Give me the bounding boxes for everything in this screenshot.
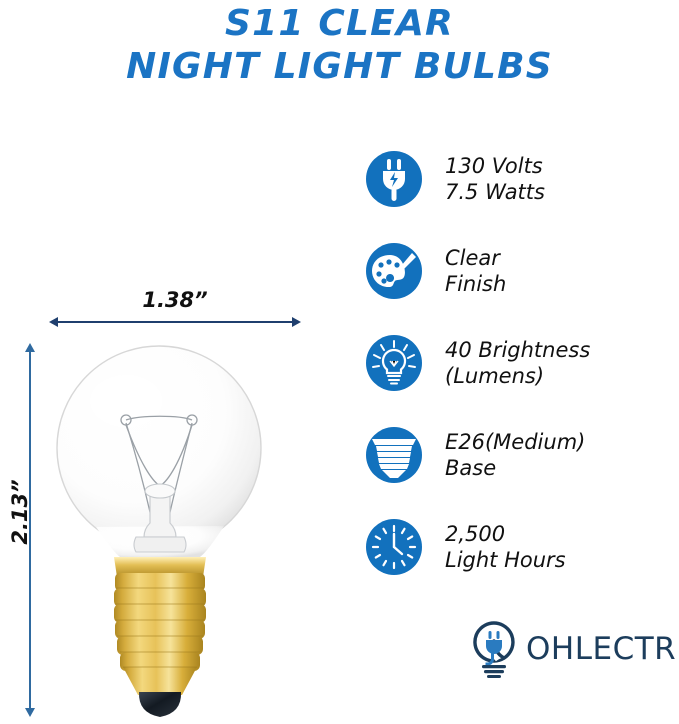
spec-list: 130 Volts 7.5 Watts Clear Finish [365, 133, 665, 593]
spec-text-finish: Clear Finish [445, 245, 506, 297]
spec-line1: 40 Brightness [445, 337, 590, 363]
spec-line2: Base [445, 455, 585, 481]
spec-row-voltage: 130 Volts 7.5 Watts [365, 133, 665, 225]
spec-line1: 130 Volts [445, 153, 545, 179]
width-dimension-arrow [58, 321, 292, 323]
page-title: S11 CLEAR NIGHT LIGHT BULBS [0, 2, 679, 88]
brand-name-text: OHLECTRIC [526, 631, 679, 667]
brand-logo: OHLECTRIC ® [466, 618, 671, 680]
spec-line2: 7.5 Watts [445, 179, 545, 205]
lightbulb-icon [365, 334, 423, 392]
spec-row-finish: Clear Finish [365, 225, 665, 317]
height-dimension-label: 2.13” [8, 452, 32, 572]
width-dimension-label: 1.38” [58, 288, 292, 312]
spec-text-base: E26(Medium) Base [445, 429, 585, 481]
spec-line2: Finish [445, 271, 506, 297]
spec-line1: E26(Medium) [445, 429, 585, 455]
page-title-line2: NIGHT LIGHT BULBS [0, 45, 679, 88]
page-title-line1: S11 CLEAR [0, 2, 679, 45]
spec-row-hours: 2,500 Light Hours [365, 501, 665, 593]
spec-line1: Clear [445, 245, 506, 271]
screw-base-icon [365, 426, 423, 484]
clock-icon [365, 518, 423, 576]
bulb-image [40, 345, 310, 720]
plug-icon [365, 150, 423, 208]
palette-icon [365, 242, 423, 300]
brand-name: OHLECTRIC ® [526, 631, 679, 667]
spec-line1: 2,500 [445, 521, 566, 547]
spec-text-brightness: 40 Brightness (Lumens) [445, 337, 590, 389]
bulb-plug-logo-icon [466, 619, 522, 679]
spec-line2: (Lumens) [445, 363, 590, 389]
product-illustration-panel: 1.38” 2.13” [0, 120, 340, 620]
spec-row-brightness: 40 Brightness (Lumens) [365, 317, 665, 409]
spec-text-voltage: 130 Volts 7.5 Watts [445, 153, 545, 205]
spec-line2: Light Hours [445, 547, 566, 573]
spec-text-hours: 2,500 Light Hours [445, 521, 566, 573]
spec-row-base: E26(Medium) Base [365, 409, 665, 501]
